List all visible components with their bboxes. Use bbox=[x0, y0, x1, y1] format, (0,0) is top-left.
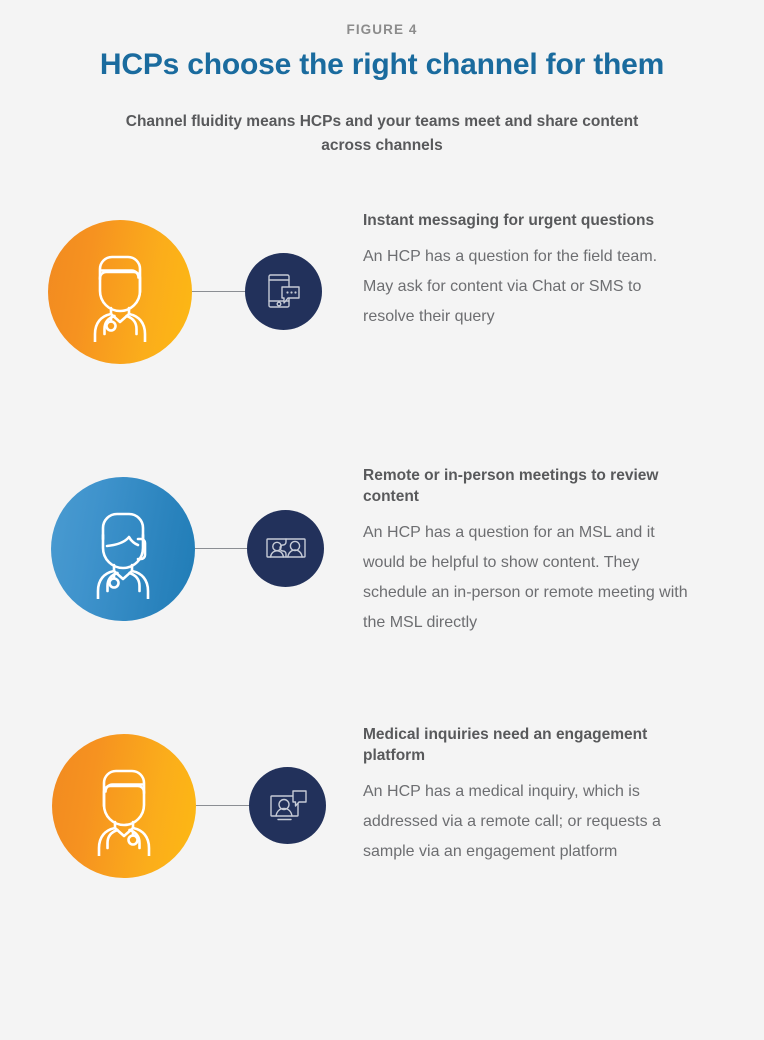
list-item-body: An HCP has a question for the field team… bbox=[363, 242, 678, 331]
item-text: Instant messaging for urgent questions A… bbox=[363, 202, 764, 332]
figure-subtitle: Channel fluidity means HCPs and your tea… bbox=[122, 110, 642, 158]
figure-header: FIGURE 4 HCPs choose the right channel f… bbox=[0, 0, 764, 158]
list-item: Instant messaging for urgent questions A… bbox=[0, 202, 764, 382]
page-title: HCPs choose the right channel for them bbox=[0, 46, 764, 84]
male-doctor-icon bbox=[52, 734, 196, 878]
channel-list: Instant messaging for urgent questions A… bbox=[0, 202, 764, 896]
male-doctor-icon bbox=[48, 220, 192, 364]
list-item: Remote or in-person meetings to review c… bbox=[0, 459, 764, 639]
icon-group bbox=[0, 459, 363, 639]
figure-label: FIGURE 4 bbox=[0, 22, 764, 38]
list-item-title: Remote or in-person meetings to review c… bbox=[363, 465, 708, 508]
engagement-platform-icon bbox=[249, 767, 326, 844]
icon-group bbox=[0, 202, 363, 382]
list-item-body: An HCP has a medical inquiry, which is a… bbox=[363, 777, 681, 866]
item-text: Remote or in-person meetings to review c… bbox=[363, 459, 764, 638]
connector-line bbox=[196, 805, 250, 807]
female-doctor-icon bbox=[51, 477, 195, 621]
list-item-body: An HCP has a question for an MSL and it … bbox=[363, 518, 693, 637]
phone-chat-icon bbox=[245, 253, 322, 330]
connector-line bbox=[195, 548, 249, 550]
video-meeting-icon bbox=[247, 510, 324, 587]
list-item-title: Medical inquiries need an engagement pla… bbox=[363, 724, 708, 767]
figure-container: FIGURE 4 HCPs choose the right channel f… bbox=[0, 0, 764, 1040]
list-item-title: Instant messaging for urgent questions bbox=[363, 210, 708, 231]
icon-group bbox=[0, 716, 363, 896]
connector-line bbox=[192, 291, 246, 293]
list-item: Medical inquiries need an engagement pla… bbox=[0, 716, 764, 896]
item-text: Medical inquiries need an engagement pla… bbox=[363, 716, 764, 867]
